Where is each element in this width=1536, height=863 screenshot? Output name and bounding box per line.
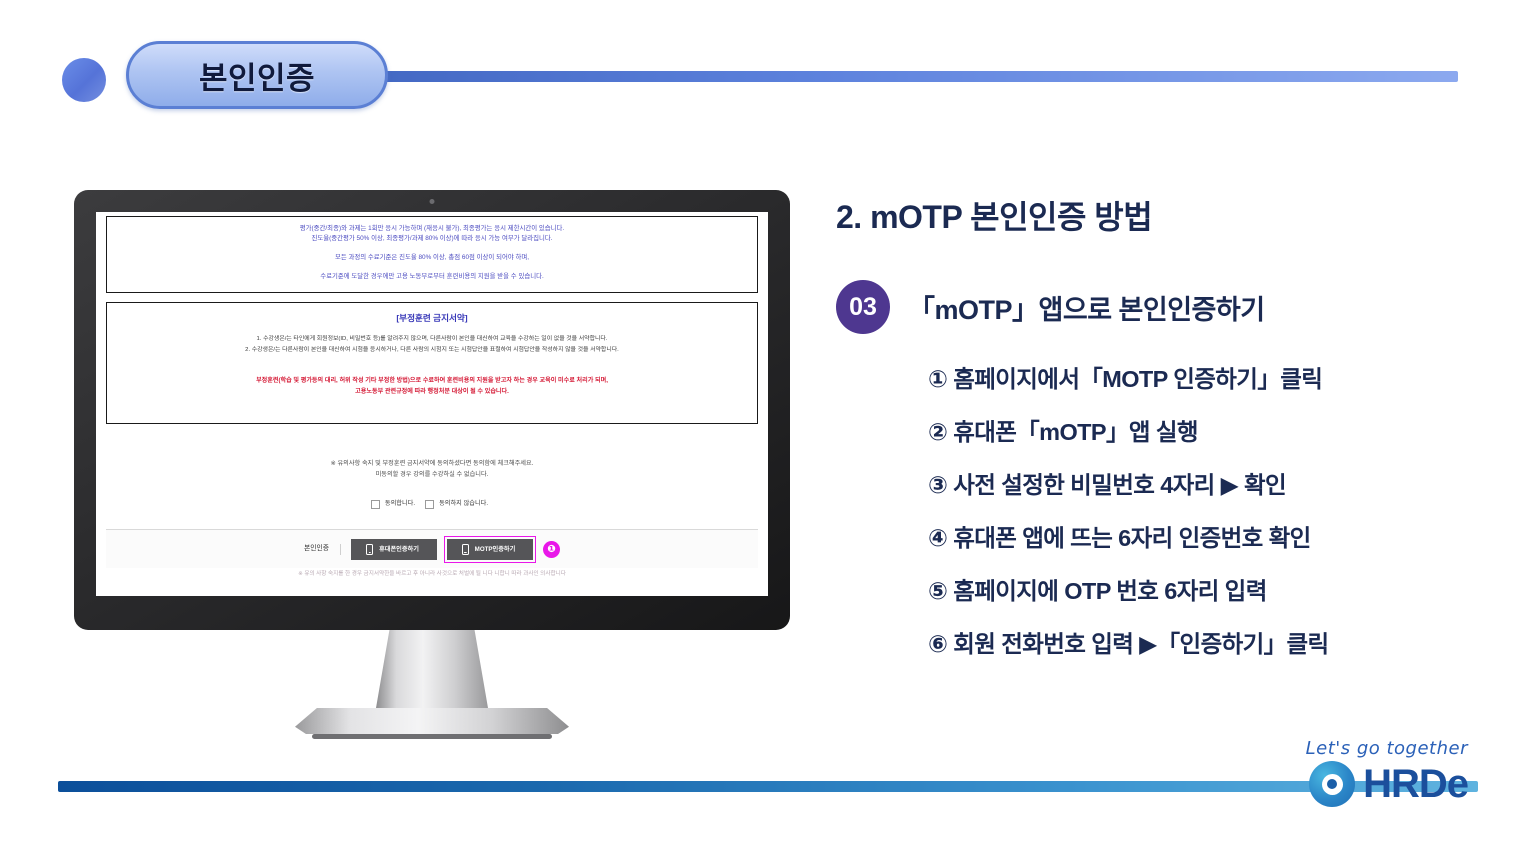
spacer <box>106 293 758 302</box>
monitor-stand-foot <box>312 734 552 739</box>
notice-line: 평가(중간/최종)와 과제는 1회만 응시 가능하며 (재응시 불가), 최종평… <box>113 224 751 234</box>
webpage-content: 평가(중간/최종)와 과제는 1회만 응시 가능하며 (재응시 불가), 최종평… <box>96 212 768 579</box>
page-title: 본인인증 <box>199 53 315 98</box>
hrde-circle-logo-icon <box>1309 761 1355 807</box>
monitor-screen: 평가(중간/최종)와 과제는 1회만 응시 가능하며 (재응시 불가), 최종평… <box>96 212 768 596</box>
phone-verification-button-label: 휴대폰인증하기 <box>379 545 419 555</box>
monitor-frame: 평가(중간/최종)와 과제는 1회만 응시 가능하며 (재응시 불가), 최종평… <box>74 190 790 630</box>
notice-line: 모든 과정의 수료기준은 진도율 80% 이상, 총점 60점 이상이 되어야 … <box>113 253 751 263</box>
brand-logo: Let's go together HRDe <box>1306 738 1468 807</box>
identity-verification-bar: 본인인증 휴대폰인증하기 MOTP인증하기 ❶ <box>106 529 758 568</box>
mobile-phone-icon <box>462 544 469 555</box>
logo-dot <box>1327 779 1337 789</box>
brand-tagline: Let's go together <box>1306 738 1468 759</box>
notice-box: 평가(중간/최종)와 과제는 1회만 응시 가능하며 (재응시 불가), 최종평… <box>106 216 758 293</box>
monitor-illustration: 평가(중간/최종)와 과제는 1회만 응시 가능하며 (재응시 불가), 최종평… <box>74 190 790 739</box>
callout-number-badge: ❶ <box>543 541 560 558</box>
brand-name: HRDe <box>1363 762 1468 807</box>
page-title-badge: 본인인증 <box>126 41 388 109</box>
agreement-note: 미동의할 경우 강의를 수강하실 수 없습니다. <box>106 469 758 480</box>
step-item: ② 휴대폰「mOTP」앱 실행 <box>928 413 1496 447</box>
notice-line: 진도율(중간평가 50% 이상, 최종평가/과제 80% 이상)에 따라 응시 … <box>113 234 751 244</box>
disagree-checkbox[interactable] <box>425 500 434 509</box>
step-item: ⑤ 홈페이지에 OTP 번호 6자리 입력 <box>928 572 1496 606</box>
clipped-footer-text: ※ 유의 사항 숙지를 한 경우 금지서약한을 바르고 후 아니라 사것으로 처… <box>106 568 758 579</box>
step-item: ① 홈페이지에서「MOTP 인증하기」클릭 <box>928 360 1496 394</box>
step-number-badge: 03 <box>836 280 890 334</box>
pledge-item: 2. 수강생은/는 다른사람이 본인을 대신하여 시험을 응시하거나, 다른 사… <box>115 345 749 356</box>
webcam-icon <box>430 199 435 204</box>
motp-verification-button-label: MOTP인증하기 <box>475 545 516 555</box>
header-divider-line <box>300 71 1458 82</box>
step-item: ④ 휴대폰 앱에 뜨는 6자리 인증번호 확인 <box>928 519 1496 553</box>
notice-line: 수료기준에 도달한 경우에만 고용 노동부로부터 훈련비용의 지원을 받을 수 … <box>113 272 751 282</box>
footer-divider-bar <box>58 781 1478 792</box>
subsection-heading: 「mOTP」앱으로 본인인증하기 <box>908 288 1265 327</box>
section-heading: 2. mOTP 본인인증 방법 <box>836 192 1496 238</box>
motp-verification-button[interactable]: MOTP인증하기 <box>447 539 533 560</box>
mobile-phone-icon <box>366 544 373 555</box>
step-item: ⑥ 회원 전화번호 입력 ▶「인증하기」클릭 <box>928 625 1496 659</box>
identity-verification-label: 본인인증 <box>304 544 341 555</box>
agreement-checkboxes: 동의합니다. 동의하지 않습니다. <box>106 499 758 509</box>
monitor-stand-base <box>295 708 569 734</box>
agree-checkbox[interactable] <box>371 500 380 509</box>
pledge-warning: 부정훈련(학습 및 평가등의 대리, 허위 작성 기타 부정한 방법)으로 수료… <box>115 376 749 397</box>
pledge-title: [부정훈련 금지서약] <box>115 312 749 325</box>
agree-checkbox-label: 동의합니다. <box>385 499 415 509</box>
step-list: ① 홈페이지에서「MOTP 인증하기」클릭 ② 휴대폰「mOTP」앱 실행 ③ … <box>836 360 1496 659</box>
instructions-panel: 2. mOTP 본인인증 방법 03 「mOTP」앱으로 본인인증하기 ① 홈페… <box>836 192 1496 678</box>
header-decoration-dot-icon <box>62 58 106 102</box>
phone-verification-button[interactable]: 휴대폰인증하기 <box>351 539 437 560</box>
pledge-warning-line: 부정훈련(학습 및 평가등의 대리, 허위 작성 기타 부정한 방법)으로 수료… <box>115 376 749 387</box>
slide: 본인인증 평가(중간/최종)와 과제는 1회만 응시 가능하며 (재응시 불가)… <box>0 0 1536 863</box>
monitor-stand-neck <box>376 630 488 708</box>
agreement-section: ※ 유의사항 숙지 및 부정훈련 금지서약에 동의하셨다면 동의함에 체크해주세… <box>106 424 758 529</box>
logo-ring <box>1322 774 1343 795</box>
agreement-note: ※ 유의사항 숙지 및 부정훈련 금지서약에 동의하셨다면 동의함에 체크해주세… <box>106 458 758 469</box>
brand-logo-row: HRDe <box>1306 761 1468 807</box>
pledge-warning-line: 고용노동부 관련규정에 따라 행정처분 대상이 될 수 있습니다. <box>115 387 749 398</box>
step-item: ③ 사전 설정한 비밀번호 4자리 ▶ 확인 <box>928 466 1496 500</box>
disagree-checkbox-label: 동의하지 않습니다. <box>439 499 488 509</box>
subsection-row: 03 「mOTP」앱으로 본인인증하기 <box>836 280 1496 334</box>
pledge-item: 1. 수강생은/는 타인에게 회원정보(ID, 비밀번호 등)를 알려주지 않으… <box>115 334 749 345</box>
pledge-box: [부정훈련 금지서약] 1. 수강생은/는 타인에게 회원정보(ID, 비밀번호… <box>106 302 758 424</box>
